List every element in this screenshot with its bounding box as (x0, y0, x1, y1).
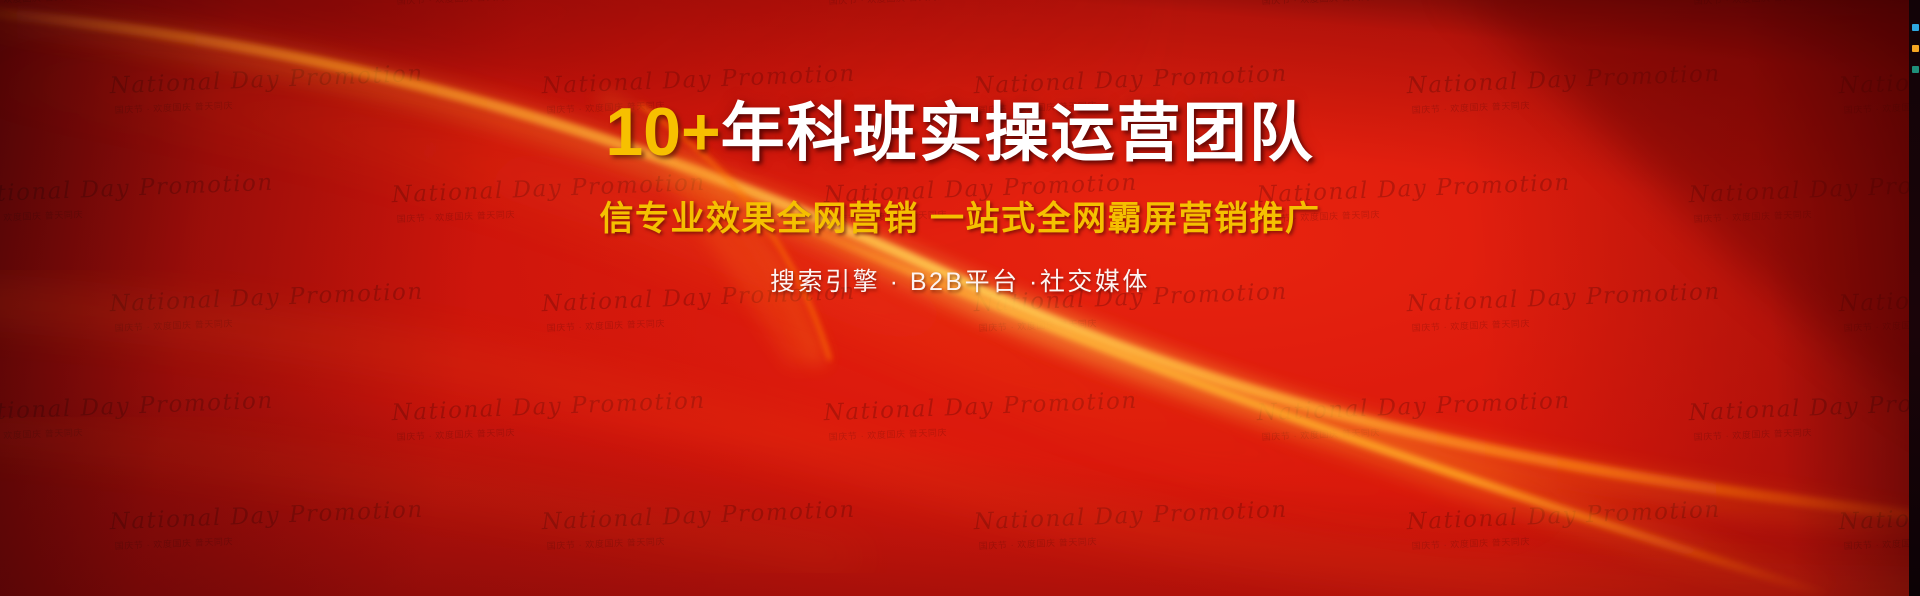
edge-dot-orange-icon (1912, 45, 1919, 52)
edge-dot-teal-icon (1912, 66, 1919, 73)
banner-text-block: 10+年科班实操运营团队 信专业效果全网营销 一站式全网霸屏营销推广 搜索引擎 … (0, 96, 1920, 298)
headline-rest: 年科班实操运营团队 (721, 97, 1315, 169)
headline-accent: 10+ (605, 94, 720, 170)
headline: 10+年科班实操运营团队 (0, 96, 1920, 169)
edge-dot-blue-icon (1912, 24, 1919, 31)
tagline: 搜索引擎 · B2B平台 ·社交媒体 (0, 262, 1920, 298)
right-edge-strip[interactable] (1909, 0, 1920, 596)
promo-banner: National Day Promotion国庆节 · 欢度国庆 普天同庆Nat… (0, 0, 1920, 596)
subline: 信专业效果全网营销 一站式全网霸屏营销推广 (0, 191, 1920, 240)
